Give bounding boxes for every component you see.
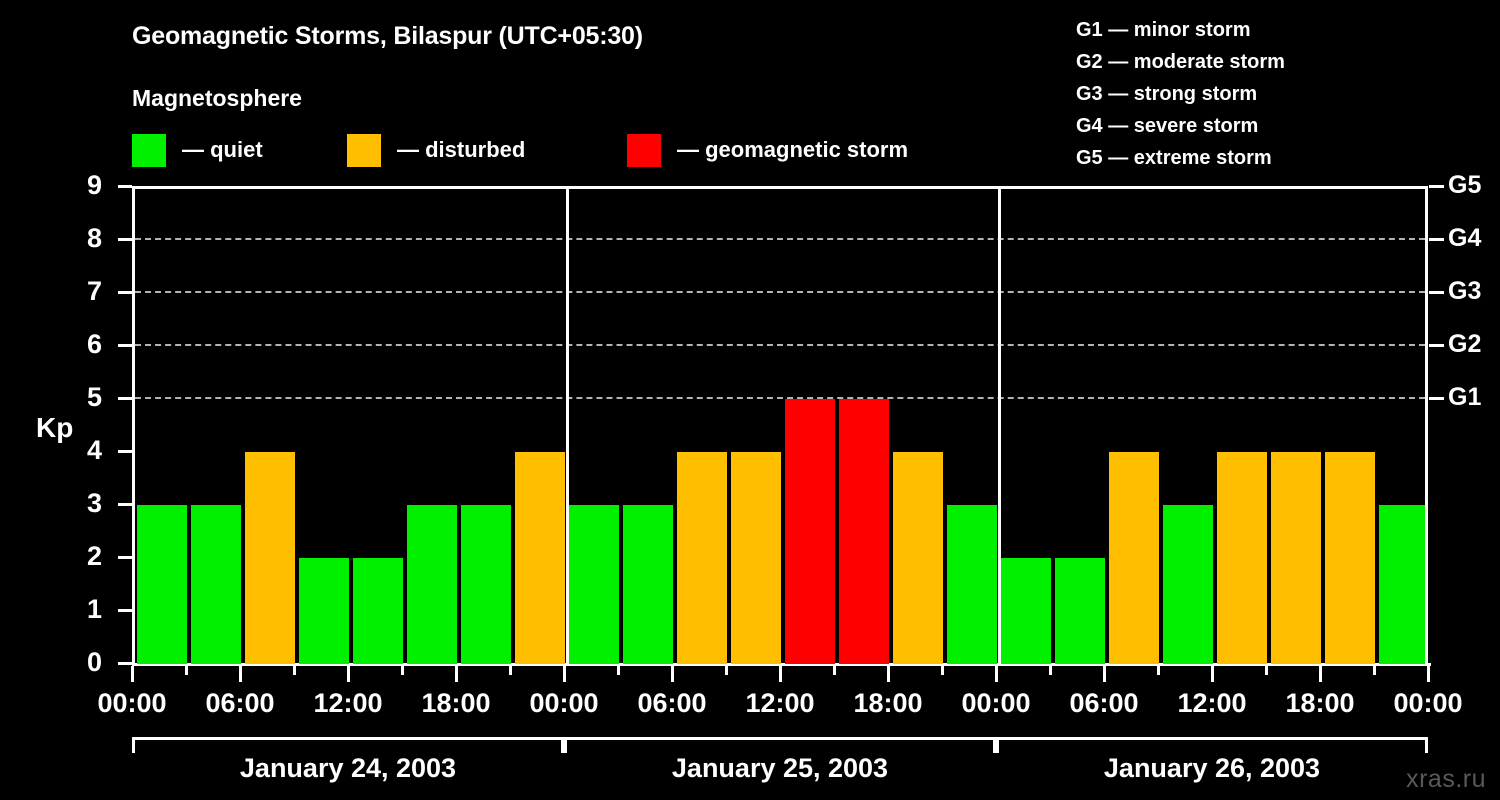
bar	[1109, 452, 1160, 664]
x-minor-tick-9	[617, 666, 620, 675]
y-tick-label-0: 0	[62, 649, 102, 676]
y-tick-label-1: 1	[62, 596, 102, 623]
y-tick-mark-0	[118, 662, 132, 665]
y-tick-label-2: 2	[62, 543, 102, 570]
g-tick-label-g2: G2	[1448, 332, 1481, 357]
bar	[839, 399, 890, 664]
x-minor-tick-11	[725, 666, 728, 675]
y-tick-mark-9	[118, 185, 132, 188]
x-tick-mark-2	[347, 666, 350, 682]
x-tick-mark-6	[779, 666, 782, 682]
bar	[191, 505, 242, 664]
x-tick-label-6: 12:00	[720, 688, 840, 719]
bar	[1217, 452, 1268, 664]
x-tick-mark-7	[887, 666, 890, 682]
y-tick-label-3: 3	[62, 490, 102, 517]
x-tick-mark-11	[1319, 666, 1322, 682]
g-tick-mark-g4	[1429, 238, 1444, 241]
x-minor-tick-13	[833, 666, 836, 675]
day-divider	[998, 189, 1001, 664]
g-legend-row-g4: G4 — severe storm	[1076, 110, 1376, 142]
x-minor-tick-19	[1157, 666, 1160, 675]
x-tick-label-11: 18:00	[1260, 688, 1380, 719]
g-tick-mark-g1	[1429, 397, 1444, 400]
x-minor-tick-3	[293, 666, 296, 675]
y-tick-mark-4	[118, 450, 132, 453]
x-tick-label-8: 00:00	[936, 688, 1056, 719]
x-tick-label-9: 06:00	[1044, 688, 1164, 719]
x-minor-tick-7	[509, 666, 512, 675]
bar	[137, 505, 188, 664]
bar	[1001, 558, 1052, 664]
x-tick-mark-3	[455, 666, 458, 682]
x-tick-label-3: 18:00	[396, 688, 516, 719]
x-tick-label-7: 18:00	[828, 688, 948, 719]
bar	[1379, 505, 1425, 664]
y-tick-label-8: 8	[62, 225, 102, 252]
bar	[731, 452, 782, 664]
g-legend-row-g2: G2 — moderate storm	[1076, 46, 1376, 78]
legend-swatch-geomagnetic-storm	[627, 134, 661, 167]
y-tick-label-4: 4	[62, 437, 102, 464]
day-label: January 24, 2003	[132, 753, 564, 784]
legend-entry-geomagnetic-storm: — geomagnetic storm	[627, 132, 908, 168]
x-tick-mark-12	[1427, 666, 1430, 682]
gridline-kp-5	[135, 397, 1425, 399]
legend-swatch-disturbed	[347, 134, 381, 167]
bar	[947, 505, 998, 664]
plot-frame	[132, 186, 1428, 664]
x-tick-label-10: 12:00	[1152, 688, 1272, 719]
x-minor-tick-5	[401, 666, 404, 675]
y-tick-label-7: 7	[62, 278, 102, 305]
g-tick-label-g3: G3	[1448, 279, 1481, 304]
day-divider	[566, 189, 569, 664]
x-tick-mark-1	[239, 666, 242, 682]
x-tick-label-0: 00:00	[72, 688, 192, 719]
legend-label-geomagnetic-storm: — geomagnetic storm	[677, 139, 908, 161]
gridline-kp-6	[135, 344, 1425, 346]
x-tick-mark-9	[1103, 666, 1106, 682]
page-title: Geomagnetic Storms, Bilaspur (UTC+05:30)	[132, 22, 643, 51]
g-tick-mark-g3	[1429, 291, 1444, 294]
bar	[353, 558, 404, 664]
x-minor-tick-17	[1049, 666, 1052, 675]
g-tick-mark-g5	[1429, 185, 1444, 188]
x-minor-tick-1	[185, 666, 188, 675]
x-tick-label-4: 00:00	[504, 688, 624, 719]
bar	[1055, 558, 1106, 664]
g-legend-row-g3: G3 — strong storm	[1076, 78, 1376, 110]
day-label: January 25, 2003	[564, 753, 996, 784]
bar	[623, 505, 674, 664]
g-legend-row-g5: G5 — extreme storm	[1076, 142, 1376, 174]
y-tick-mark-1	[118, 609, 132, 612]
g-tick-mark-g2	[1429, 344, 1444, 347]
bar	[893, 452, 944, 664]
y-tick-mark-5	[118, 397, 132, 400]
x-tick-mark-5	[671, 666, 674, 682]
x-tick-label-2: 12:00	[288, 688, 408, 719]
legend-label-disturbed: — disturbed	[397, 139, 525, 161]
y-tick-label-6: 6	[62, 331, 102, 358]
bar	[1163, 505, 1214, 664]
bar	[245, 452, 296, 664]
g-scale-legend: G1 — minor stormG2 — moderate stormG3 — …	[1076, 14, 1376, 174]
legend-swatch-quiet	[132, 134, 166, 167]
plot-inner	[135, 189, 1425, 664]
g-tick-label-g4: G4	[1448, 226, 1481, 251]
gridline-kp-8	[135, 238, 1425, 240]
bar	[407, 505, 458, 664]
bar	[785, 399, 836, 664]
x-tick-mark-4	[563, 666, 566, 682]
day-label: January 26, 2003	[996, 753, 1428, 784]
geomagnetic-storm-chart: Geomagnetic Storms, Bilaspur (UTC+05:30)…	[0, 0, 1500, 800]
y-tick-mark-3	[118, 503, 132, 506]
day-bracket	[996, 737, 1428, 753]
y-tick-mark-2	[118, 556, 132, 559]
day-bracket	[132, 737, 564, 753]
x-tick-label-1: 06:00	[180, 688, 300, 719]
bar	[461, 505, 512, 664]
bar	[569, 505, 620, 664]
x-tick-label-12: 00:00	[1368, 688, 1488, 719]
g-tick-label-g5: G5	[1448, 173, 1481, 198]
x-tick-label-5: 06:00	[612, 688, 732, 719]
day-bracket	[564, 737, 996, 753]
bar	[515, 452, 566, 664]
legend-entry-quiet: — quiet	[132, 132, 263, 168]
x-minor-tick-21	[1265, 666, 1268, 675]
y-tick-mark-8	[118, 238, 132, 241]
legend-entry-disturbed: — disturbed	[347, 132, 525, 168]
magnetosphere-label: Magnetosphere	[132, 85, 302, 112]
y-tick-mark-7	[118, 291, 132, 294]
watermark: xras.ru	[1406, 765, 1486, 794]
y-tick-label-5: 5	[62, 384, 102, 411]
gridline-kp-7	[135, 291, 1425, 293]
x-tick-mark-10	[1211, 666, 1214, 682]
x-tick-mark-8	[995, 666, 998, 682]
bar	[677, 452, 728, 664]
g-legend-row-g1: G1 — minor storm	[1076, 14, 1376, 46]
legend-label-quiet: — quiet	[182, 139, 263, 161]
bar	[1271, 452, 1322, 664]
x-tick-mark-0	[131, 666, 134, 682]
bar	[299, 558, 350, 664]
g-tick-label-g1: G1	[1448, 385, 1481, 410]
y-tick-mark-6	[118, 344, 132, 347]
bar	[1325, 452, 1376, 664]
x-minor-tick-15	[941, 666, 944, 675]
x-minor-tick-23	[1373, 666, 1376, 675]
y-tick-label-9: 9	[62, 172, 102, 199]
